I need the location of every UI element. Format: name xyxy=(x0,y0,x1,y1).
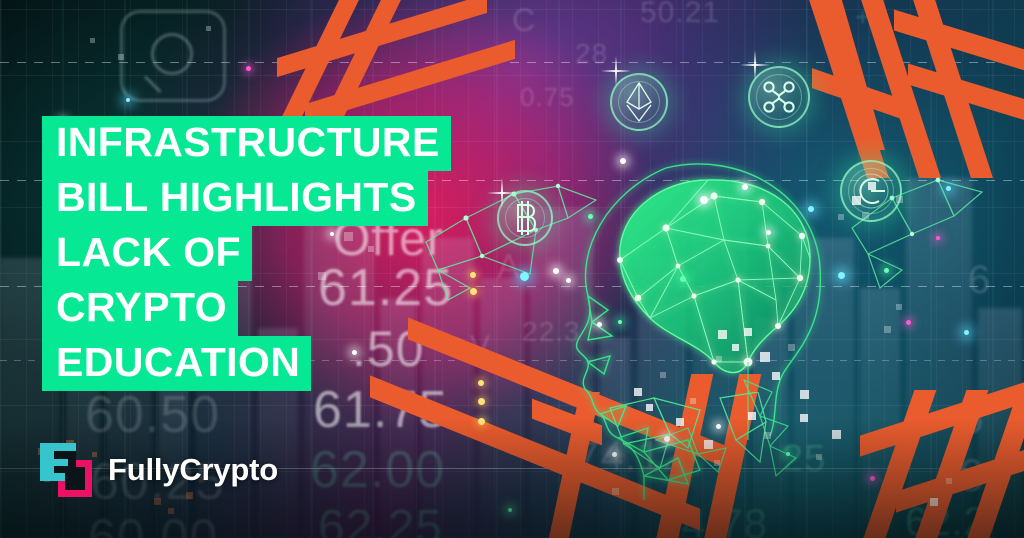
pixel-particle xyxy=(832,430,841,439)
ticker-number: 28 xyxy=(575,38,608,70)
headline-line-3: LACK OF xyxy=(42,226,252,281)
pixel-particle xyxy=(760,352,770,362)
search-lens-icon xyxy=(151,33,193,75)
pixel-particle xyxy=(646,404,653,411)
pixel-particle xyxy=(206,26,211,31)
glow-dot xyxy=(936,236,940,240)
fullycrypto-logo[interactable]: FullyCrypto xyxy=(40,443,278,497)
glow-dot xyxy=(566,278,571,283)
coin-ring xyxy=(618,81,660,123)
pixel-particle xyxy=(800,390,809,399)
search-icon xyxy=(120,10,226,102)
glow-dot xyxy=(700,196,708,204)
glow-dot xyxy=(766,230,771,235)
headline: INFRASTRUCTURE BILL HIGHLIGHTS LACK OF C… xyxy=(42,116,451,391)
glow-dot xyxy=(906,320,911,325)
pixel-particle xyxy=(676,418,684,426)
glow-dot xyxy=(478,380,484,386)
pixel-particle xyxy=(732,344,739,351)
glow-dot xyxy=(520,272,529,281)
glow-dot xyxy=(808,206,814,212)
pixel-particle xyxy=(168,508,174,514)
glow-dot xyxy=(870,476,875,481)
glow-dot xyxy=(478,418,485,425)
pixel-particle xyxy=(748,412,756,420)
pixel-particle xyxy=(718,330,727,339)
glow-dot xyxy=(716,424,721,429)
coin-ring xyxy=(505,198,545,238)
glow-dot xyxy=(786,452,790,456)
pixel-particle xyxy=(868,182,876,190)
pixel-particle xyxy=(772,372,780,380)
headline-line-4: CRYPTO xyxy=(42,281,238,336)
pixel-particle xyxy=(800,414,808,422)
sparkle-icon xyxy=(754,50,756,80)
glow-dot xyxy=(246,66,251,71)
ripple-coin-icon xyxy=(748,66,810,128)
pixel-particle xyxy=(634,388,642,396)
pixel-particle xyxy=(118,54,124,60)
glow-dot xyxy=(553,268,559,274)
ticker-number: 50.21 xyxy=(640,0,720,30)
pixel-particle xyxy=(896,196,903,203)
glow-dot xyxy=(470,288,477,295)
pixel-particle xyxy=(744,328,752,336)
pixel-particle xyxy=(90,38,95,43)
glow-dot xyxy=(664,436,670,442)
coin-ring xyxy=(756,74,802,120)
sparkle-icon xyxy=(501,178,503,208)
article-banner: 50.21+9280.75Offer61.25A.5022.361.7562.0… xyxy=(0,0,1024,538)
glow-dot xyxy=(126,98,130,102)
coin-ring xyxy=(848,168,894,214)
fullycrypto-f-logo-icon xyxy=(40,443,92,497)
pixel-particle xyxy=(930,498,938,506)
glow-dot xyxy=(618,320,622,324)
search-handle-icon xyxy=(144,75,162,93)
pixel-particle xyxy=(704,440,713,449)
pixel-particle xyxy=(764,432,771,439)
pixel-particle xyxy=(946,478,952,484)
glow-dot xyxy=(838,272,845,279)
brand-wordmark: FullyCrypto xyxy=(108,452,278,488)
pixel-particle xyxy=(788,344,795,351)
glow-dot xyxy=(508,508,512,512)
glow-dot xyxy=(964,330,969,335)
pixel-particle xyxy=(690,398,696,404)
pixel-particle xyxy=(838,214,844,220)
headline-line-1: INFRASTRUCTURE xyxy=(42,116,451,171)
pixel-particle xyxy=(896,304,902,310)
pixel-particle xyxy=(716,356,722,362)
pixel-particle xyxy=(714,460,720,466)
bitcoin-coin-icon xyxy=(497,190,553,246)
glow-dot xyxy=(742,184,748,190)
logo-inner-cutout xyxy=(65,467,85,490)
ticker-number: 60.50 xyxy=(85,385,220,445)
glow-dot xyxy=(620,158,626,164)
pixel-particle xyxy=(154,498,161,505)
pixel-particle xyxy=(612,488,619,495)
pixel-particle xyxy=(862,212,869,219)
glow-dot xyxy=(597,322,602,327)
generic-coin-icon xyxy=(840,160,902,222)
glow-dot xyxy=(478,398,485,405)
pixel-particle xyxy=(816,454,822,460)
polygon-network-bottom xyxy=(600,392,800,522)
glow-dot xyxy=(680,276,686,282)
glow-dot xyxy=(612,452,617,457)
ticker-number: 60.00 xyxy=(88,508,218,538)
pixel-particle xyxy=(852,196,861,205)
pixel-particle xyxy=(660,372,666,378)
chevron-accent-bottom-right xyxy=(880,390,1024,538)
glow-dot xyxy=(884,268,889,273)
pixel-particle xyxy=(884,326,891,333)
headline-line-5: EDUCATION xyxy=(42,336,311,391)
glow-dot xyxy=(470,272,476,278)
sparkle-icon xyxy=(615,56,617,86)
glow-dot xyxy=(946,186,951,191)
ethereum-coin-icon xyxy=(610,73,668,131)
glow-dot xyxy=(588,214,593,219)
headline-line-2: BILL HIGHLIGHTS xyxy=(42,171,428,226)
